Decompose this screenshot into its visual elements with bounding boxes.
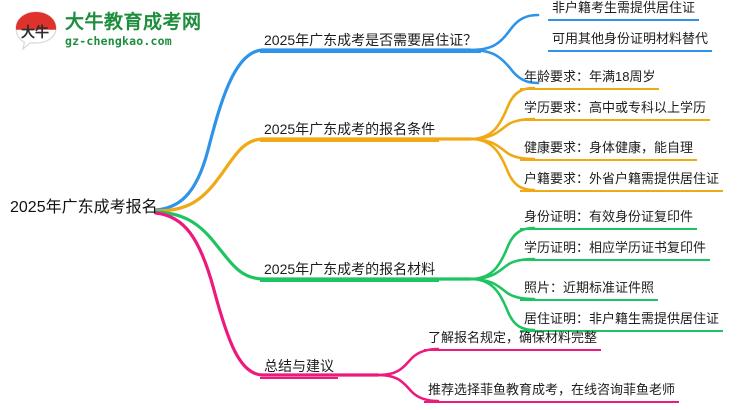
edge-root-to-branch-1 (156, 50, 262, 210)
mindmap-leaf-node-4-2[interactable]: 推荐选择菲鱼教育成考，在线咨询菲鱼老师 (424, 382, 679, 403)
mindmap-root-node[interactable]: 2025年广东成考报名 (6, 198, 162, 219)
edge-root-to-branch-4 (156, 213, 262, 375)
bull-speech-bubble-icon: 大牛 (14, 10, 58, 50)
mindmap-leaf-node-2-2[interactable]: 学历要求：高中或专科以上学历 (520, 100, 710, 121)
svg-text:大牛: 大牛 (21, 24, 49, 41)
mindmap-branch-node-3[interactable]: 2025年广东成考的报名材料 (260, 260, 439, 282)
edge-root-to-branch-2 (156, 139, 262, 211)
mindmap-leaf-node-3-4[interactable]: 居住证明：非户籍生需提供居住证 (520, 311, 723, 332)
logo-domain: gz-chengkao.com (65, 36, 202, 48)
mindmap-leaf-node-2-1[interactable]: 年龄要求：年满18周岁 (520, 69, 659, 90)
mindmap-branch-node-2[interactable]: 2025年广东成考的报名条件 (260, 120, 439, 142)
mindmap-leaf-node-2-3[interactable]: 健康要求：身体健康，能自理 (520, 140, 697, 161)
mindmap-canvas: 大牛 大牛教育成考网 gz-chengkao.com 2025年广东成考报名 2… (0, 0, 750, 410)
mindmap-leaf-node-1-2[interactable]: 可用其他身份证明材料替代 (548, 31, 712, 52)
logo-title: 大牛教育成考网 (65, 13, 202, 32)
mindmap-leaf-node-3-3[interactable]: 照片：近期标准证件照 (520, 280, 658, 301)
edge-branch-2-to-leaf-2 (470, 119, 534, 139)
edge-branch-4-to-leaf-1 (378, 349, 438, 375)
site-logo[interactable]: 大牛 大牛教育成考网 gz-chengkao.com (14, 10, 202, 50)
mindmap-leaf-node-2-4[interactable]: 户籍要求：外省户籍需提供居住证 (520, 171, 723, 192)
mindmap-leaf-node-1-1[interactable]: 非户籍考生需提供居住证 (548, 0, 699, 21)
mindmap-leaf-node-3-2[interactable]: 学历证明：相应学历证书复印件 (520, 240, 710, 261)
edge-root-to-branch-3 (156, 212, 262, 279)
mindmap-branch-node-1[interactable]: 2025年广东成考是否需要居住证？ (260, 31, 481, 53)
mindmap-leaf-node-4-1[interactable]: 了解报名规定，确保材料完整 (424, 330, 601, 351)
edge-branch-3-to-leaf-2 (470, 259, 534, 279)
mindmap-leaf-node-3-1[interactable]: 身份证明：有效身份证复印件 (520, 209, 697, 230)
mindmap-branch-node-4[interactable]: 总结与建议 (260, 357, 338, 379)
